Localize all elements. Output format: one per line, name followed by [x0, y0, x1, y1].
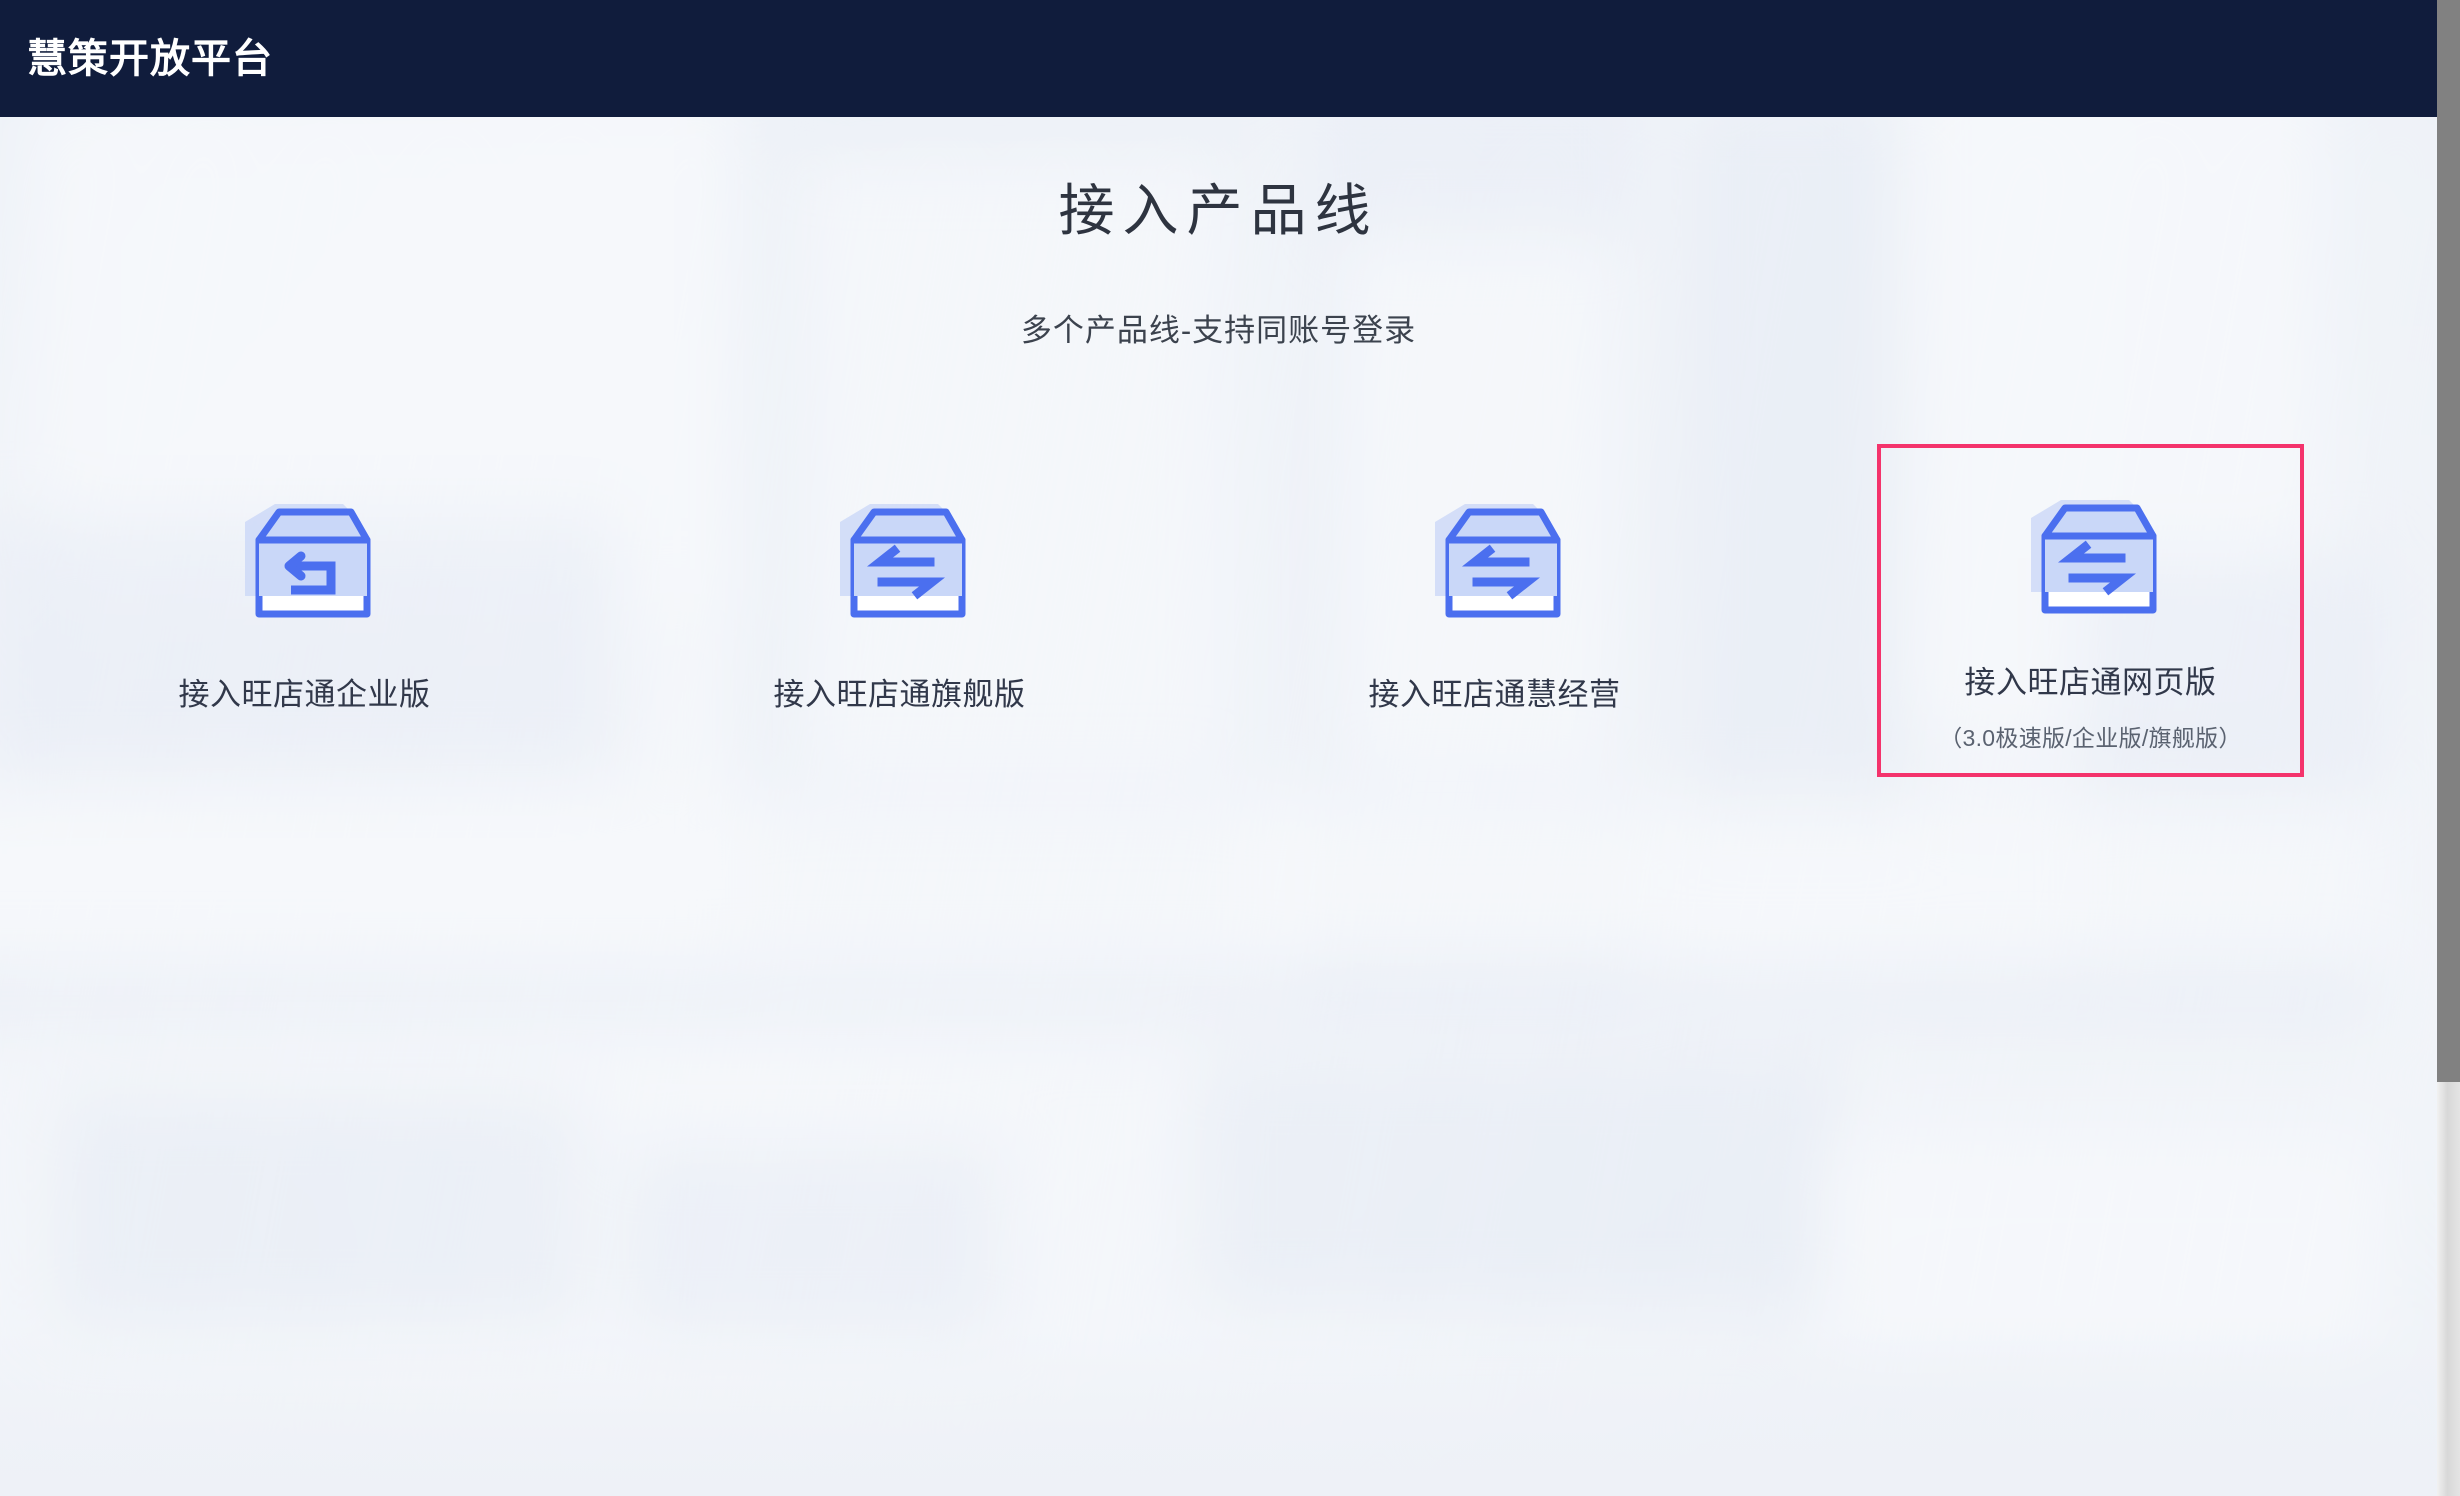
scrollbar-thumb[interactable] [2437, 0, 2460, 1082]
bottom-fade [0, 1326, 2437, 1496]
main-content: 接入产品线 多个产品线-支持同账号登录 接入旺店通企业版 [0, 117, 2437, 1496]
product-card-huijingying[interactable]: 接入旺店通慧经营 [1282, 444, 1707, 777]
page-root: 慧策开放平台 接入产品线 多个产品线-支持同账号登录 [0, 0, 2460, 1496]
box-exchange-arrow-icon [2025, 500, 2157, 616]
product-card-flagship[interactable]: 接入旺店通旗舰版 [687, 444, 1112, 777]
product-label: 接入旺店通旗舰版 [774, 676, 1026, 713]
product-label: 接入旺店通企业版 [179, 676, 431, 713]
app-header: 慧策开放平台 [0, 0, 2437, 117]
product-label: 接入旺店通网页版 [1965, 664, 2217, 701]
product-card-webversion[interactable]: 接入旺店通网页版 （3.0极速版/企业版/旗舰版） [1877, 444, 2304, 777]
box-exchange-arrow-icon [834, 504, 966, 620]
product-card-enterprise[interactable]: 接入旺店通企业版 [92, 444, 517, 777]
box-exchange-arrow-icon [1429, 504, 1561, 620]
page-subtitle: 多个产品线-支持同账号登录 [0, 305, 2437, 350]
page-title: 接入产品线 [0, 176, 2437, 246]
box-return-arrow-icon [239, 504, 371, 620]
product-label: 接入旺店通慧经营 [1369, 676, 1621, 713]
vertical-scrollbar[interactable] [2437, 0, 2460, 1496]
app-title: 慧策开放平台 [27, 39, 273, 79]
product-line-list: 接入旺店通企业版 接入旺店通旗舰版 [92, 444, 2352, 777]
product-sublabel: （3.0极速版/企业版/旗舰版） [1939, 719, 2242, 753]
